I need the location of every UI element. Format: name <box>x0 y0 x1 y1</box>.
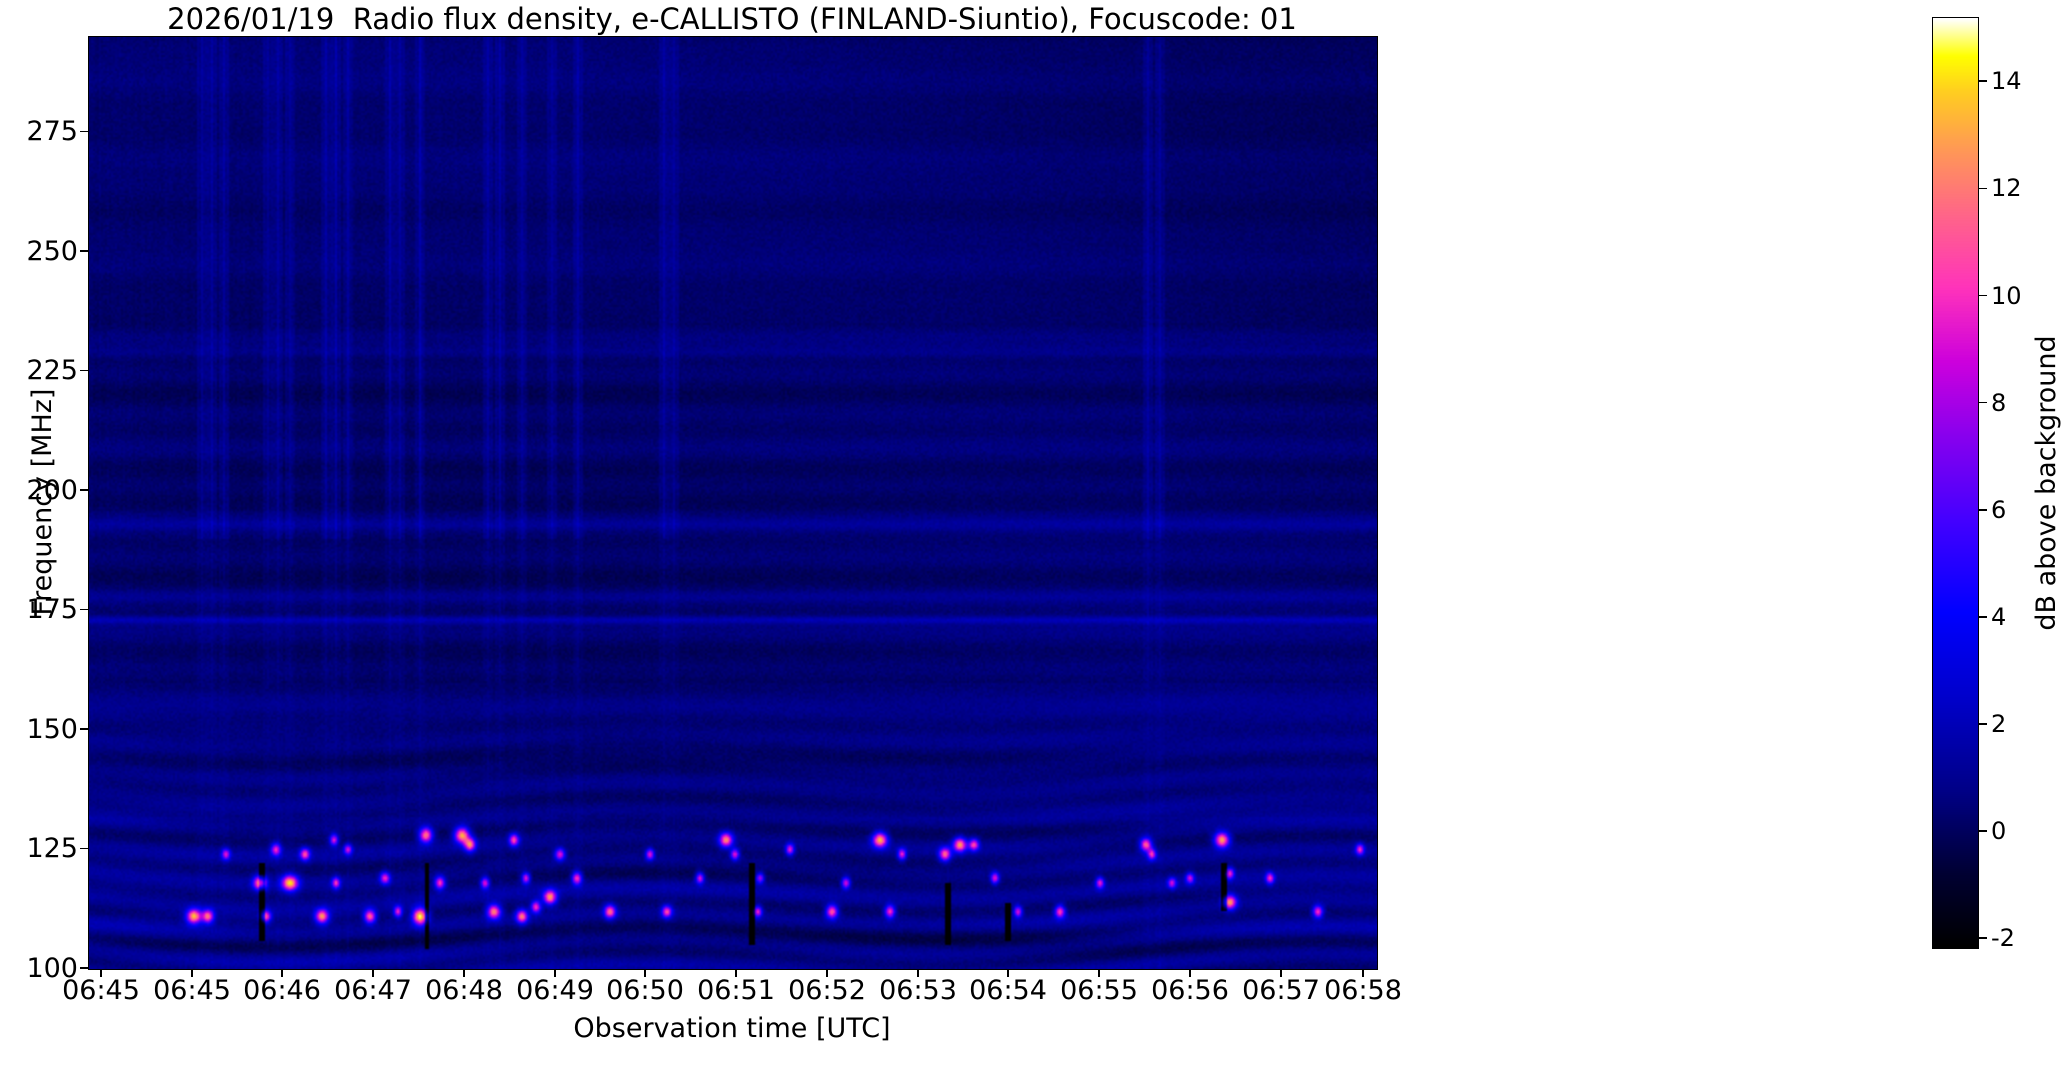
colorbar-tick-label: 14 <box>1991 69 2022 93</box>
x-tick-mark <box>554 969 556 977</box>
colorbar-label: dB above background <box>2030 17 2064 949</box>
y-tick-label: 275 <box>0 118 78 145</box>
y-tick-mark <box>80 967 88 969</box>
y-tick-label: 250 <box>0 238 78 265</box>
x-tick-mark <box>826 969 828 977</box>
page-title: 2026/01/19 Radio flux density, e-CALLIST… <box>88 4 1376 34</box>
y-tick-mark <box>80 848 88 850</box>
y-tick-label: 200 <box>0 477 78 504</box>
colorbar-tick-mark <box>1979 937 1987 939</box>
y-tick-mark <box>80 370 88 372</box>
x-tick-mark <box>1362 969 1364 977</box>
colorbar-tick-mark <box>1979 80 1987 82</box>
x-tick-mark <box>1007 969 1009 977</box>
y-tick-mark <box>80 728 88 730</box>
x-tick-mark <box>191 969 193 977</box>
y-tick-label: 225 <box>0 357 78 384</box>
colorbar-tick-mark <box>1979 830 1987 832</box>
x-tick-mark <box>917 969 919 977</box>
colorbar <box>1932 17 1979 949</box>
x-tick-mark <box>281 969 283 977</box>
x-tick-mark <box>644 969 646 977</box>
colorbar-tick-label: 6 <box>1991 498 2006 522</box>
x-tick-mark <box>735 969 737 977</box>
colorbar-tick-mark <box>1979 616 1987 618</box>
y-tick-label: 175 <box>0 596 78 623</box>
x-axis-label: Observation time [UTC] <box>88 1014 1376 1044</box>
colorbar-tick-mark <box>1979 188 1987 190</box>
colorbar-tick-label: 0 <box>1991 819 2006 843</box>
y-tick-mark <box>80 131 88 133</box>
x-tick-mark <box>1189 969 1191 977</box>
colorbar-tick-label: -2 <box>1991 926 2015 950</box>
colorbar-tick-label: 10 <box>1991 284 2022 308</box>
spectrogram-image <box>89 37 1377 969</box>
colorbar-tick-label: 12 <box>1991 176 2022 200</box>
y-tick-label: 150 <box>0 716 78 743</box>
x-tick-mark <box>1280 969 1282 977</box>
y-tick-mark <box>80 609 88 611</box>
colorbar-tick-label: 8 <box>1991 391 2006 415</box>
x-tick-mark <box>1098 969 1100 977</box>
colorbar-tick-label: 4 <box>1991 605 2006 629</box>
y-tick-mark <box>80 250 88 252</box>
spectrogram-plot[interactable] <box>88 36 1378 970</box>
x-tick-label: 06:58 <box>1293 976 1433 1006</box>
colorbar-tick-mark <box>1979 295 1987 297</box>
colorbar-tick-label: 2 <box>1991 712 2006 736</box>
y-tick-label: 125 <box>0 835 78 862</box>
colorbar-gradient <box>1933 18 1978 948</box>
x-tick-mark <box>372 969 374 977</box>
x-tick-mark <box>463 969 465 977</box>
x-tick-mark <box>100 969 102 977</box>
figure-canvas: 2026/01/19 Radio flux density, e-CALLIST… <box>0 0 2066 1067</box>
colorbar-tick-mark <box>1979 402 1987 404</box>
colorbar-tick-mark <box>1979 723 1987 725</box>
colorbar-tick-mark <box>1979 509 1987 511</box>
y-tick-mark <box>80 489 88 491</box>
